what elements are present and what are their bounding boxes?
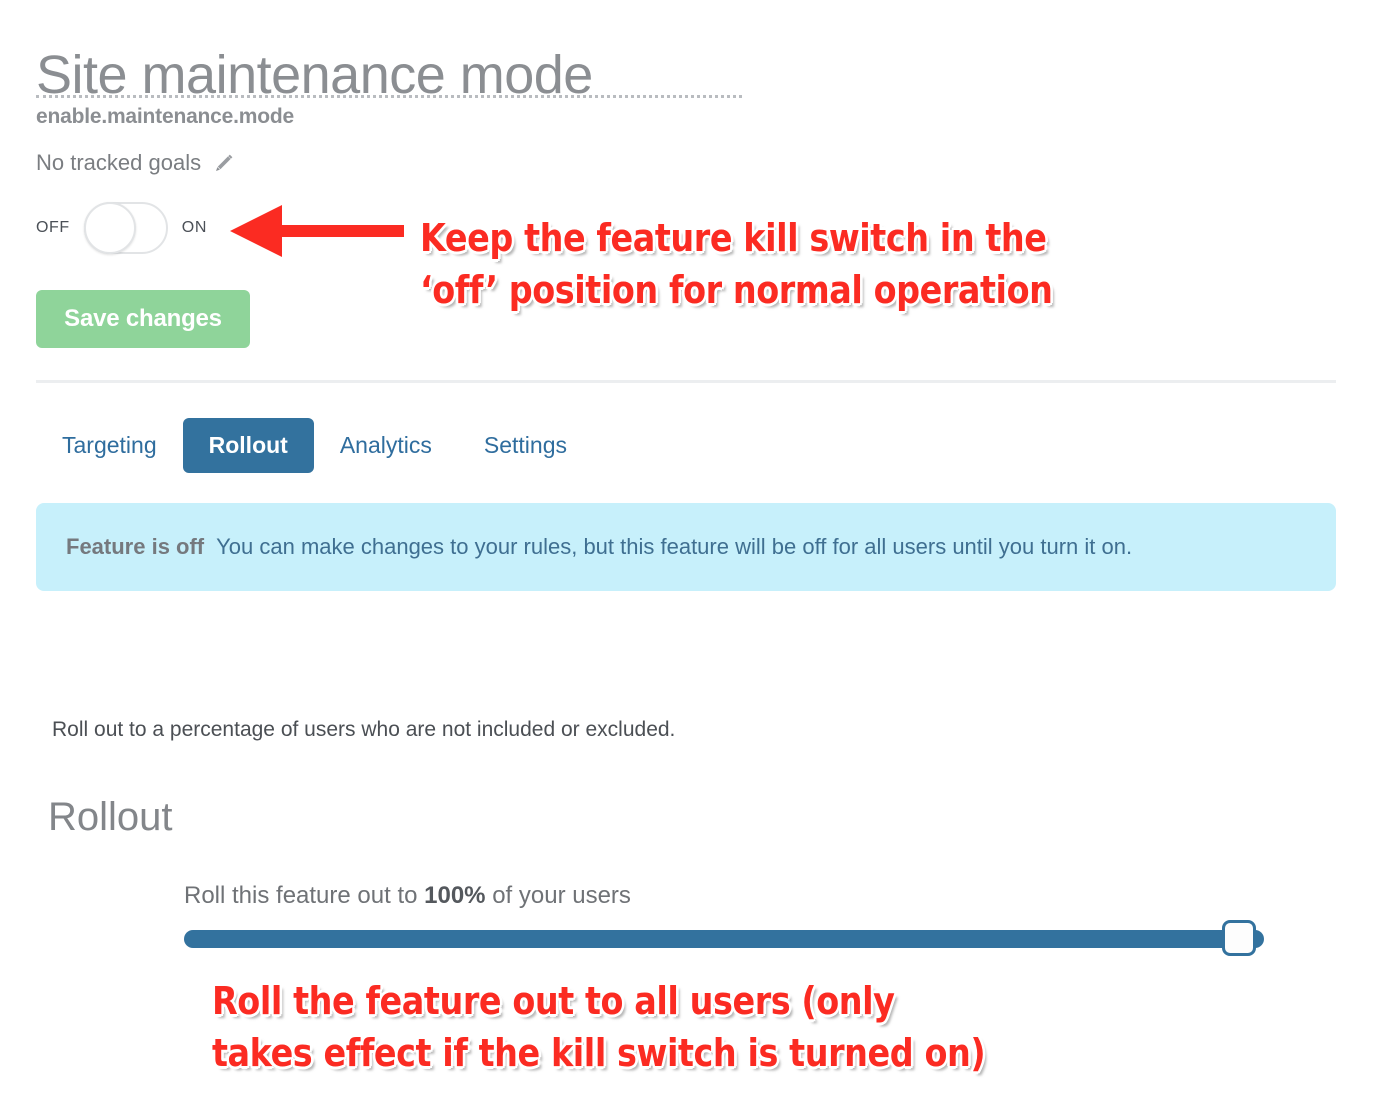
tracked-goals-label: No tracked goals [36,150,201,176]
banner-message: You can make changes to your rules, but … [216,534,1132,560]
tab-settings[interactable]: Settings [458,418,593,473]
tab-rollout[interactable]: Rollout [183,418,314,473]
feature-status-banner: Feature is off You can make changes to y… [36,503,1336,591]
rollout-description: Roll out to a percentage of users who ar… [52,718,675,742]
rollout-slider-handle[interactable] [1222,920,1256,956]
left-arrow-icon [228,200,408,262]
rollout-slider-track[interactable] [184,930,1264,948]
section-divider [36,380,1336,383]
kill-switch-toggle[interactable] [84,202,168,254]
tab-analytics[interactable]: Analytics [314,418,458,473]
save-changes-button[interactable]: Save changes [36,290,250,348]
title-dotted-divider [36,95,742,98]
rollout-label-suffix: of your users [486,882,631,909]
rollout-slider[interactable] [184,920,1264,956]
rollout-heading: Rollout [48,795,173,840]
feature-key: enable.maintenance.mode [36,105,294,129]
kill-switch-on-label: ON [182,219,207,237]
kill-switch-row: OFF ON [36,200,207,256]
tab-targeting[interactable]: Targeting [36,418,183,473]
annotation-kill-switch: Keep the feature kill switch in the ‘off… [420,212,1052,317]
rollout-label-prefix: Roll this feature out to [184,882,424,909]
banner-status-label: Feature is off [66,534,204,560]
kill-switch-off-label: OFF [36,219,70,237]
rollout-percent-value: 100% [424,882,485,909]
tracked-goals-row: No tracked goals [36,150,235,176]
kill-switch-knob[interactable] [84,202,136,254]
annotation-rollout: Roll the feature out to all users (only … [212,975,985,1080]
pencil-icon[interactable] [213,152,235,174]
tab-bar: Targeting Rollout Analytics Settings [36,418,593,473]
rollout-slider-label: Roll this feature out to 100% of your us… [184,882,631,910]
